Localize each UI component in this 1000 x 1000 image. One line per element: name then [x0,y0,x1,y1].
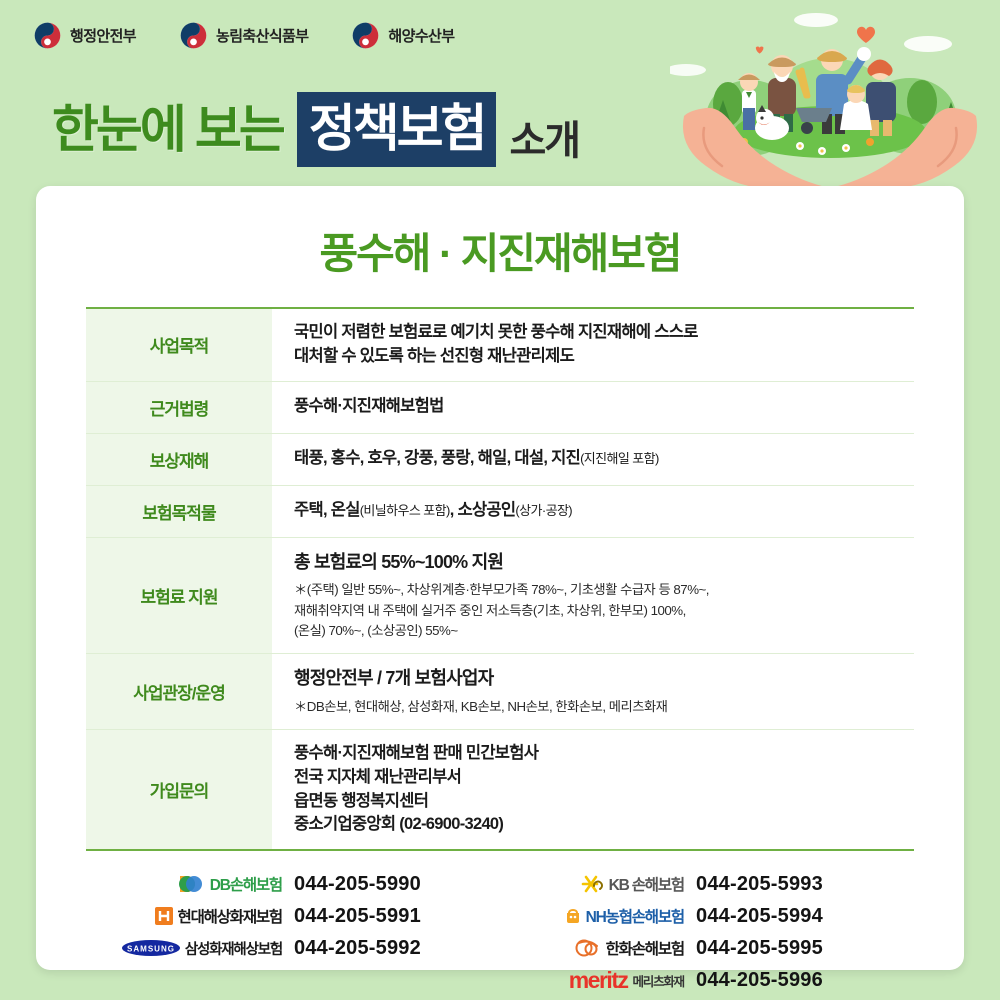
list-item: meritz 메리츠화재 044-205-5996 [518,965,914,995]
row-label-purpose: 사업목적 [86,308,272,381]
db-logo-icon: DB손해보험 [116,873,294,895]
premium-note-3: (온실) 70%~, (소상공인) 55%~ [294,621,914,641]
insurer-phone: 044-205-5996 [696,969,823,992]
table-row: 사업관장/운영 행정안전부 / 7개 보험사업자 ＊DB손보, 현대해상, 삼성… [86,654,914,730]
meritz-wordmark: meritz [569,967,628,994]
insurer-name: 현대해상화재보험 [178,905,282,927]
insurer-contact-list: DB손해보험 044-205-5990 현대해상화재보험 044-205-599… [86,851,914,997]
insurer-name: 메리츠화재 [632,971,684,990]
family-farm-hands-illustration [670,8,990,190]
inquiry-line-1: 풍수해·지진재해보험 판매 민간보험사 [294,742,914,766]
list-item: 현대해상화재보험 044-205-5991 [116,901,500,931]
premium-lead: 총 보험료의 55%~100% 지원 [294,550,914,576]
row-label-covered-disasters: 보상재해 [86,433,272,485]
administration-lead: 행정안전부 / 7개 보험사업자 [294,666,914,692]
samsung-logo-icon: SAMSUNG 삼성화재해상보험 [116,938,294,959]
row-value-administration: 행정안전부 / 7개 보험사업자 ＊DB손보, 현대해상, 삼성화재, KB손보… [272,654,914,730]
list-item: NH농협손해보험 044-205-5994 [518,901,914,931]
law-line-1: 풍수해·지진재해보험법 [294,395,914,419]
insurer-column-right: KB 손해보험 044-205-5993 NH농협손해보험 044-205-59… [500,869,914,997]
inquiry-line-2: 전국 지자체 재난관리부서 [294,766,914,790]
purpose-line-1: 국민이 저렴한 보험료로 예기치 못한 풍수해 지진재해에 스스로 [294,321,914,345]
taeguk-icon [180,22,207,49]
list-item: KB 손해보험 044-205-5993 [518,869,914,899]
row-value-inquiry: 풍수해·지진재해보험 판매 민간보험사 전국 지자체 재난관리부서 읍면동 행정… [272,730,914,851]
insurer-phone: 044-205-5992 [294,937,421,960]
row-value-insured-objects: 주택, 온실(비닐하우스 포함), 소상공인(상가·공장) [272,485,914,537]
objects-part-2: , 소상공인 [450,501,516,519]
objects-note-2: (상가·공장) [515,503,572,518]
premium-note-1: ＊(주택) 일반 55%~, 차상위계층·한부모가족 78%~, 기초생활 수급… [294,580,914,600]
row-label-administration: 사업관장/운영 [86,654,272,730]
row-value-purpose: 국민이 저렴한 보험료로 예기치 못한 풍수해 지진재해에 스스로 대처할 수 … [272,308,914,381]
insurer-name: 삼성화재해상보험 [185,938,282,959]
list-item: DB손해보험 044-205-5990 [116,869,500,899]
banner-prefix-text: 한눈에 보는 [52,104,297,155]
banner-highlight-box: 정책보험 [297,92,497,167]
objects-note-1: (비닐하우스 포함) [360,503,450,518]
row-value-premium-support: 총 보험료의 55%~100% 지원 ＊(주택) 일반 55%~, 차상위계층·… [272,537,914,654]
ministry-item-mafra: 농림축산식품부 [180,22,308,49]
ministry-item-mof: 해양수산부 [352,22,454,49]
premium-note-2: 재해취약지역 내 주택에 실거주 중인 저소득층(기초, 차상위, 한부모) 1… [294,601,914,621]
banner-suffix-text: 소개 [496,121,579,167]
insurer-phone: 044-205-5991 [294,905,421,928]
ministry-logo-strip: 행정안전부 농림축산식품부 해양수산부 [34,22,454,49]
table-row: 근거법령 풍수해·지진재해보험법 [86,381,914,433]
table-row: 가입문의 풍수해·지진재해보험 판매 민간보험사 전국 지자체 재난관리부서 읍… [86,730,914,851]
ministry-name: 해양수산부 [388,25,454,46]
insurer-name: NH농협손해보험 [586,905,684,927]
table-row: 보상재해 태풍, 홍수, 호우, 강풍, 풍랑, 해일, 대설, 지진(지진해일… [86,433,914,485]
policy-info-table: 사업목적 국민이 저렴한 보험료로 예기치 못한 풍수해 지진재해에 스스로 대… [86,307,914,851]
taeguk-icon [352,22,379,49]
disasters-note: (지진해일 포함) [580,451,659,466]
insurer-name: 한화손해보험 [606,937,684,959]
purpose-line-2: 대처할 수 있도록 하는 선진형 재난관리제도 [294,345,914,369]
insurer-phone: 044-205-5990 [294,873,421,896]
table-row: 사업목적 국민이 저렴한 보험료로 예기치 못한 풍수해 지진재해에 스스로 대… [86,308,914,381]
card-title: 풍수해 · 지진재해보험 [86,186,914,307]
row-label-law: 근거법령 [86,381,272,433]
inquiry-line-3: 읍면동 행정복지센터 [294,790,914,814]
ministry-name: 농림축산식품부 [216,25,308,46]
table-row: 보험목적물 주택, 온실(비닐하우스 포함), 소상공인(상가·공장) [86,485,914,537]
list-item: SAMSUNG 삼성화재해상보험 044-205-5992 [116,933,500,963]
insurer-phone: 044-205-5994 [696,905,823,928]
administration-note: ＊DB손보, 현대해상, 삼성화재, KB손보, NH손보, 한화손보, 메리츠… [294,697,914,717]
inquiry-line-4: 중소기업중앙회 (02-6900-3240) [294,813,914,837]
row-value-law: 풍수해·지진재해보험법 [272,381,914,433]
insurer-column-left: DB손해보험 044-205-5990 현대해상화재보험 044-205-599… [86,869,500,997]
insurer-phone: 044-205-5995 [696,937,823,960]
row-label-insured-objects: 보험목적물 [86,485,272,537]
insurer-phone: 044-205-5993 [696,873,823,896]
taeguk-icon [34,22,61,49]
info-card: 풍수해 · 지진재해보험 사업목적 국민이 저렴한 보험료로 예기치 못한 풍수… [36,186,964,970]
disasters-main: 태풍, 홍수, 호우, 강풍, 풍랑, 해일, 대설, 지진 [294,449,580,467]
insurer-name: KB 손해보험 [609,873,684,895]
meritz-logo-icon: meritz 메리츠화재 [518,967,696,994]
objects-part-1: 주택, 온실 [294,501,360,519]
table-row: 보험료 지원 총 보험료의 55%~100% 지원 ＊(주택) 일반 55%~,… [86,537,914,654]
row-value-covered-disasters: 태풍, 홍수, 호우, 강풍, 풍랑, 해일, 대설, 지진(지진해일 포함) [272,433,914,485]
ministry-name: 행정안전부 [70,25,136,46]
hanwha-logo-icon: 한화손해보험 [518,937,696,959]
list-item: 한화손해보험 044-205-5995 [518,933,914,963]
page-title-banner: 한눈에 보는 정책보험 소개 [52,92,579,167]
row-label-inquiry: 가입문의 [86,730,272,851]
svg-text:SAMSUNG: SAMSUNG [127,945,175,954]
hyundai-logo-icon: 현대해상화재보험 [116,905,294,927]
kb-logo-icon: KB 손해보험 [518,873,696,895]
ministry-item-mois: 행정안전부 [34,22,136,49]
nh-logo-icon: NH농협손해보험 [518,905,696,927]
insurer-name: DB손해보험 [210,873,282,895]
row-label-premium-support: 보험료 지원 [86,537,272,654]
